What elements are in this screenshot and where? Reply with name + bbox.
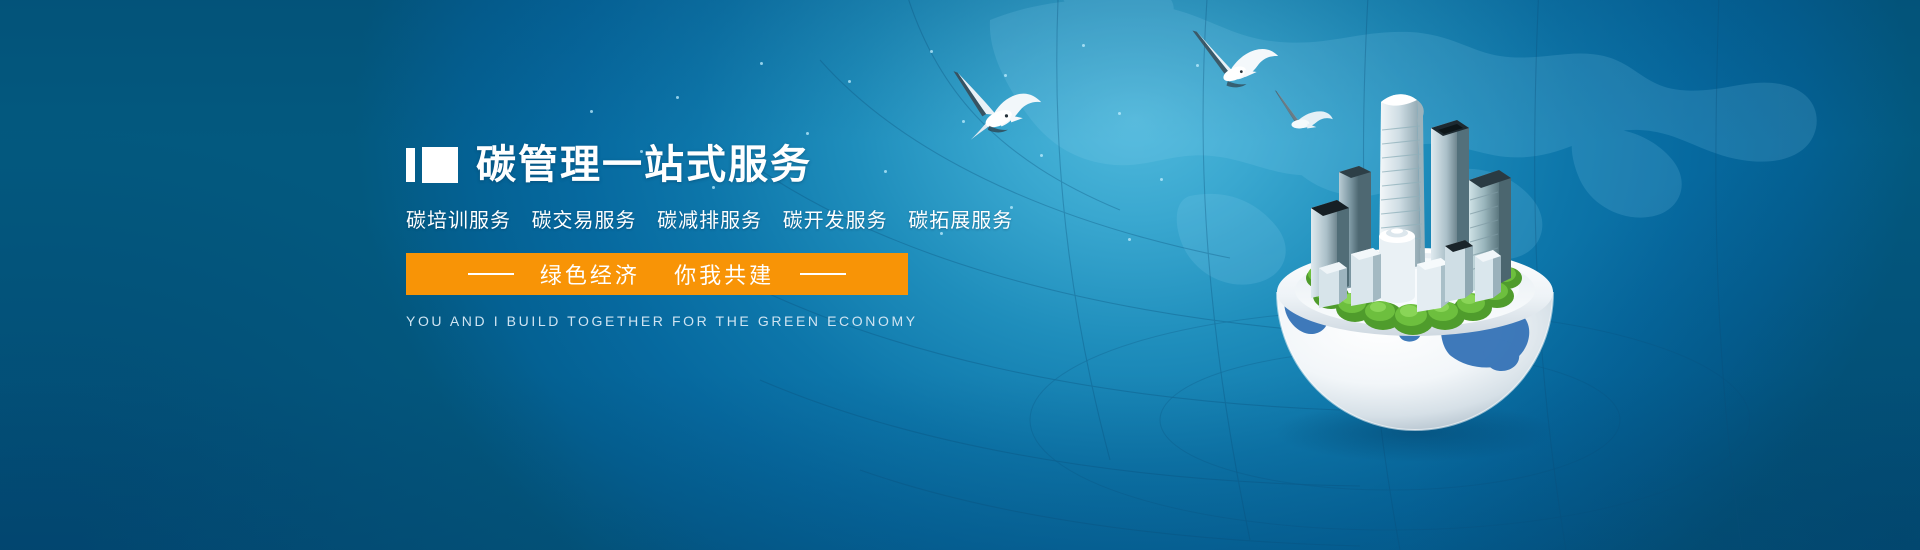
rule-right-icon <box>800 273 846 275</box>
slogan-primary: 绿色经济 <box>540 263 640 288</box>
accent-mark-icon <box>406 147 458 183</box>
slogan-secondary: 你我共建 <box>674 263 774 288</box>
rule-left-icon <box>468 273 514 275</box>
page-title: 碳管理一站式服务 <box>476 145 812 185</box>
service-item: 碳开发服务 <box>783 210 888 232</box>
globe-city-artwork <box>1255 40 1575 460</box>
city-buildings <box>1311 94 1511 312</box>
banner-copy: 碳管理一站式服务 碳培训服务 碳交易服务 碳减排服务 碳开发服务 碳拓展服务 绿… <box>406 140 1126 329</box>
hero-banner: 碳管理一站式服务 碳培训服务 碳交易服务 碳减排服务 碳开发服务 碳拓展服务 绿… <box>0 0 1920 550</box>
service-item: 碳减排服务 <box>657 210 762 232</box>
service-item: 碳交易服务 <box>532 210 637 232</box>
headline-row: 碳管理一站式服务 <box>406 140 1126 190</box>
english-tagline: YOU AND I BUILD TOGETHER FOR THE GREEN E… <box>406 313 1126 329</box>
slogan-text: 绿色经济 你我共建 <box>540 258 774 290</box>
service-item: 碳培训服务 <box>406 210 511 232</box>
service-list: 碳培训服务 碳交易服务 碳减排服务 碳开发服务 碳拓展服务 <box>406 204 1126 233</box>
slogan-ribbon: 绿色经济 你我共建 <box>406 253 908 295</box>
service-item: 碳拓展服务 <box>908 210 1013 232</box>
